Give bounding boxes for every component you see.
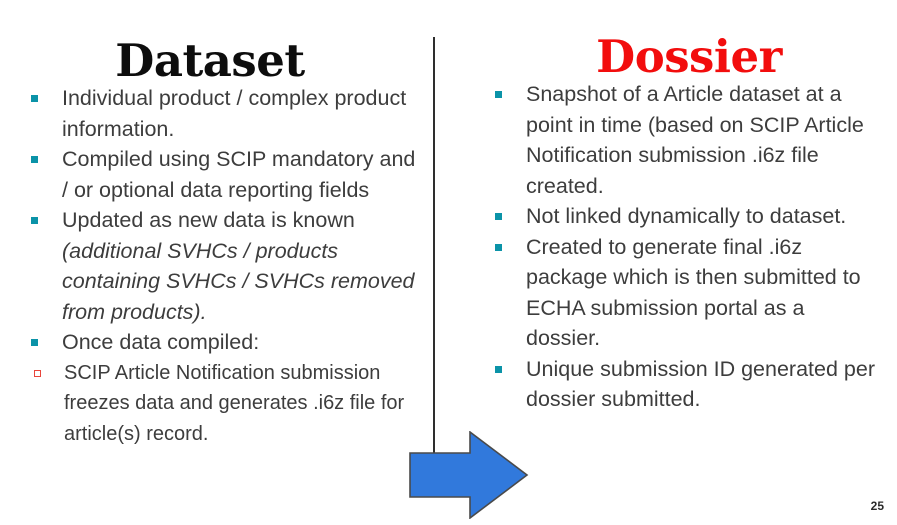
right-column-title: Dossier [484,0,884,79]
square-bullet-icon [31,156,38,163]
list-item-text: Snapshot of a Article dataset at a point… [526,82,864,198]
slide-number: 25 [871,499,884,513]
square-bullet-icon [31,339,38,346]
column-divider [433,37,435,461]
square-bullet-icon [495,91,502,98]
list-item: Not linked dynamically to dataset. [484,201,884,232]
square-bullet-icon [495,366,502,373]
square-bullet-icon [495,244,502,251]
list-item: Snapshot of a Article dataset at a point… [484,79,884,201]
list-item-text-italic: (additional SVHCs / products containing … [62,239,415,324]
list-item-text: Created to generate final .i6z package w… [526,235,861,351]
flow-arrow [409,431,529,519]
square-bullet-icon [31,217,38,224]
list-item: Created to generate final .i6z package w… [484,232,884,354]
left-sub-bullet-list: SCIP Article Notification submission fre… [20,358,420,450]
list-item-text: Updated as new data is known [62,208,355,232]
left-column-title: Dataset [20,0,420,83]
list-item-text: Unique submission ID generated per dossi… [526,357,875,412]
list-item: Once data compiled: [20,327,420,358]
list-item: Updated as new data is known [20,205,420,236]
right-arrow-shape [410,432,527,518]
list-item-text: Once data compiled: [62,330,259,354]
nested-list-container: SCIP Article Notification submission fre… [20,358,420,450]
slide-canvas: Dataset Individual product / complex pro… [0,0,897,525]
right-column: Dossier Snapshot of a Article dataset at… [484,0,884,415]
hollow-square-bullet-icon [34,370,41,377]
left-bullet-list: Individual product / complex product inf… [20,83,420,449]
list-item: Unique submission ID generated per dossi… [484,354,884,415]
right-bullet-list: Snapshot of a Article dataset at a point… [484,79,884,415]
list-item-text: Not linked dynamically to dataset. [526,204,846,228]
list-item-note: (additional SVHCs / products containing … [20,236,420,328]
square-bullet-icon [495,213,502,220]
list-item: Individual product / complex product inf… [20,83,420,144]
list-item-text: Individual product / complex product inf… [62,86,406,141]
sub-list-item-text: SCIP Article Notification submission fre… [64,362,404,445]
sub-list-item: SCIP Article Notification submission fre… [20,358,420,450]
list-item-text: Compiled using SCIP mandatory and / or o… [62,147,415,202]
square-bullet-icon [31,95,38,102]
left-column: Dataset Individual product / complex pro… [20,0,420,449]
list-item: Compiled using SCIP mandatory and / or o… [20,144,420,205]
right-arrow-icon [409,431,529,519]
